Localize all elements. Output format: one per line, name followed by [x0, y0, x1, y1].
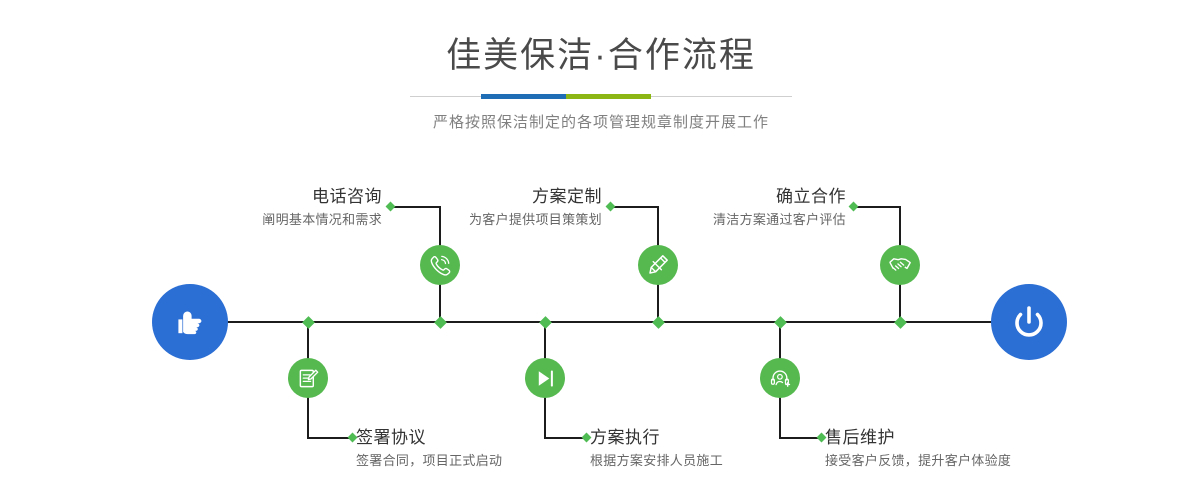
- document-sign-icon: [297, 367, 320, 390]
- branch-arm: [855, 206, 901, 208]
- divider-segment-green: [566, 94, 651, 99]
- header: 佳美保洁·合作流程 严格按照保洁制定的各项管理规章制度开展工作: [0, 34, 1202, 134]
- page-subtitle: 严格按照保洁制定的各项管理规章制度开展工作: [0, 112, 1202, 134]
- step-title: 售后维护: [825, 427, 1165, 449]
- phone-call-icon: [428, 253, 452, 277]
- pencil-edit-icon: [646, 253, 670, 277]
- process-flow-infographic: 佳美保洁·合作流程 严格按照保洁制定的各项管理规章制度开展工作: [0, 0, 1202, 502]
- step-label-3: 方案定制 为客户提供项目策策划: [330, 186, 602, 230]
- step-icon-1[interactable]: [420, 245, 460, 285]
- start-node[interactable]: [152, 284, 228, 360]
- axis-marker: [774, 316, 787, 329]
- step-icon-3[interactable]: [638, 245, 678, 285]
- handshake-icon: [888, 253, 912, 277]
- power-icon: [1007, 300, 1051, 344]
- step-icon-2[interactable]: [288, 358, 328, 398]
- step-icon-6[interactable]: [760, 358, 800, 398]
- branch-end-marker: [849, 202, 859, 212]
- pointing-hand-icon: [170, 302, 210, 342]
- step-desc: 为客户提供项目策策划: [330, 210, 602, 230]
- play-next-icon: [534, 367, 557, 390]
- end-node[interactable]: [991, 284, 1067, 360]
- axis-marker: [652, 316, 665, 329]
- axis-marker: [434, 316, 447, 329]
- branch-arm: [307, 437, 352, 439]
- step-desc: 接受客户反馈，提升客户体验度: [825, 451, 1165, 471]
- axis-marker: [894, 316, 907, 329]
- step-label-5: 确立合作 清洁方案通过客户评估: [574, 186, 846, 230]
- step-icon-4[interactable]: [525, 358, 565, 398]
- step-title: 确立合作: [574, 186, 846, 208]
- axis-marker: [539, 316, 552, 329]
- step-label-6: 售后维护 接受客户反馈，提升客户体验度: [825, 427, 1165, 471]
- step-title: 方案定制: [330, 186, 602, 208]
- page-title: 佳美保洁·合作流程: [0, 34, 1202, 78]
- step-desc: 清洁方案通过客户评估: [574, 210, 846, 230]
- branch-arm: [544, 437, 586, 439]
- branch-arm: [779, 437, 821, 439]
- step-icon-5[interactable]: [880, 245, 920, 285]
- title-divider: [410, 92, 792, 102]
- axis-marker: [302, 316, 315, 329]
- divider-segment-blue: [481, 94, 566, 99]
- customer-service-add-icon: [769, 367, 792, 390]
